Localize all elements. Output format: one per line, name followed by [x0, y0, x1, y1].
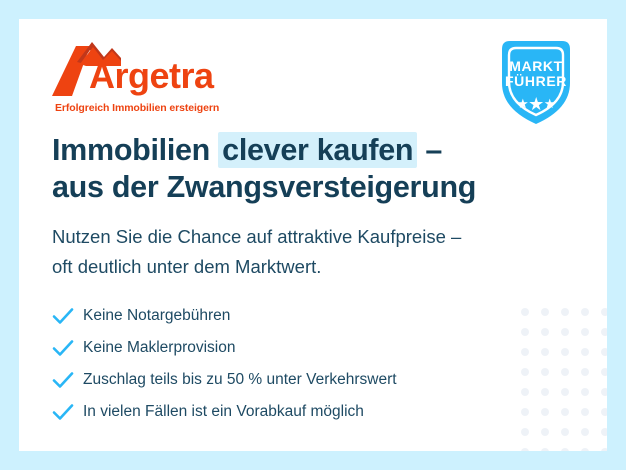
decorative-dot	[581, 388, 589, 396]
shield-badge-icon	[489, 116, 583, 133]
decorative-dot	[561, 408, 569, 416]
banner-card: Argetra Erfolgreich Immobilien ersteiger…	[19, 19, 607, 451]
decorative-dot	[581, 348, 589, 356]
badge-line-2: FÜHRER	[489, 74, 583, 89]
decorative-dot	[541, 388, 549, 396]
badge-text: MARKT FÜHRER	[489, 59, 583, 89]
decorative-dot	[561, 428, 569, 436]
headline-line-2: aus der Zwangsversteigerung	[52, 170, 476, 204]
logo-tagline: Erfolgreich Immobilien ersteigern	[55, 102, 219, 114]
decorative-dot	[541, 328, 549, 336]
argetra-logo[interactable]: Argetra Erfolgreich Immobilien ersteiger…	[52, 40, 232, 122]
check-icon	[52, 403, 78, 421]
subheadline-line-2: oft deutlich unter dem Marktwert.	[52, 256, 321, 277]
decorative-dot	[561, 388, 569, 396]
list-item: Keine Maklerprovision	[52, 332, 522, 364]
decorative-dot	[561, 368, 569, 376]
list-item: Zuschlag teils bis zu 50 % unter Verkehr…	[52, 364, 522, 396]
check-icon	[52, 339, 78, 357]
advertisement-banner: Argetra Erfolgreich Immobilien ersteiger…	[0, 0, 626, 470]
decorative-dot	[561, 348, 569, 356]
headline-line-1: Immobilien clever kaufen –	[52, 132, 442, 168]
decorative-dot	[581, 368, 589, 376]
decorative-dot	[601, 388, 607, 396]
decorative-dot	[581, 448, 589, 451]
decorative-dot-grid	[521, 308, 607, 451]
decorative-dot	[541, 368, 549, 376]
list-item-label: In vielen Fällen ist ein Vorabkauf mögli…	[78, 403, 364, 421]
subheadline-line-1: Nutzen Sie die Chance auf attraktive Kau…	[52, 226, 461, 247]
decorative-dot	[541, 348, 549, 356]
check-icon	[52, 307, 78, 325]
decorative-dot	[521, 348, 529, 356]
decorative-dot	[541, 308, 549, 316]
decorative-dot	[521, 368, 529, 376]
decorative-dot	[601, 328, 607, 336]
list-item-label: Keine Notargebühren	[78, 307, 230, 325]
decorative-dot	[561, 308, 569, 316]
decorative-dot	[601, 308, 607, 316]
list-item-label: Zuschlag teils bis zu 50 % unter Verkehr…	[78, 371, 397, 389]
headline-text-post: –	[417, 133, 442, 167]
decorative-dot	[581, 328, 589, 336]
decorative-dot	[521, 448, 529, 451]
decorative-dot	[521, 428, 529, 436]
decorative-dot	[601, 428, 607, 436]
decorative-dot	[541, 448, 549, 451]
decorative-dot	[581, 428, 589, 436]
decorative-dot	[521, 388, 529, 396]
decorative-dot	[601, 408, 607, 416]
decorative-dot	[561, 328, 569, 336]
list-item: In vielen Fällen ist ein Vorabkauf mögli…	[52, 396, 522, 428]
list-item-label: Keine Maklerprovision	[78, 339, 236, 357]
decorative-dot	[581, 308, 589, 316]
decorative-dot	[521, 328, 529, 336]
decorative-dot	[581, 408, 589, 416]
decorative-dot	[521, 408, 529, 416]
decorative-dot	[521, 308, 529, 316]
page-title: Immobilien clever kaufen – aus der Zwang…	[52, 132, 552, 206]
check-icon	[52, 371, 78, 389]
badge-stars: ★★★	[489, 94, 583, 115]
decorative-dot	[541, 428, 549, 436]
decorative-dot	[601, 348, 607, 356]
list-item: Keine Notargebühren	[52, 300, 522, 332]
headline-highlight: clever kaufen	[218, 132, 417, 168]
benefits-list: Keine Notargebühren Keine Maklerprovisio…	[52, 300, 522, 428]
decorative-dot	[601, 448, 607, 451]
logo-wordmark: Argetra	[89, 58, 214, 94]
decorative-dot	[541, 408, 549, 416]
decorative-dot	[561, 448, 569, 451]
market-leader-badge: MARKT FÜHRER ★★★	[489, 35, 583, 129]
headline-text-pre: Immobilien	[52, 133, 218, 167]
subheadline: Nutzen Sie die Chance auf attraktive Kau…	[52, 222, 562, 282]
badge-line-1: MARKT	[489, 59, 583, 74]
decorative-dot	[601, 368, 607, 376]
